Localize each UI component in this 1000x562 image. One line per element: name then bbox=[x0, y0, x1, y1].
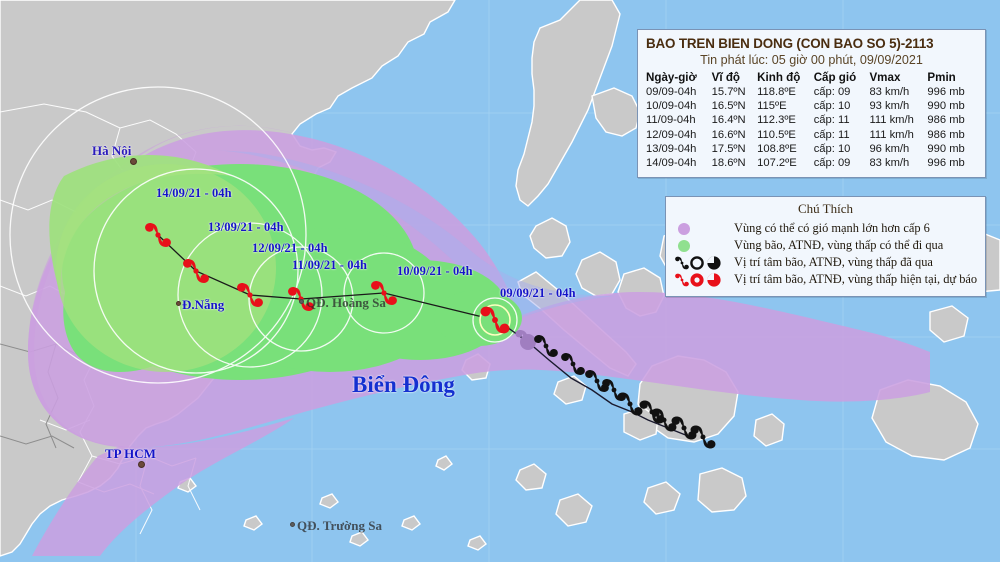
cell-lat: 16.4ºN bbox=[712, 113, 758, 127]
cell-lon: 112.3ºE bbox=[757, 113, 814, 127]
forecast-table: Ngày-giờ Vĩ độ Kinh độ Cấp gió Vmax Pmin… bbox=[646, 71, 977, 170]
cell-pmin: 990 mb bbox=[927, 99, 977, 113]
cell-pmin: 996 mb bbox=[927, 156, 977, 170]
cell-pmin: 990 mb bbox=[927, 142, 977, 156]
black-cyclone-symbols bbox=[674, 255, 728, 271]
cell-grade: cấp: 09 bbox=[814, 85, 870, 99]
cell-vmax: 111 km/h bbox=[869, 113, 927, 127]
cell-datetime: 13/09-04h bbox=[646, 142, 712, 156]
cell-lat: 15.7ºN bbox=[712, 85, 758, 99]
island-dot-hoang-sa bbox=[299, 299, 304, 304]
cell-vmax: 83 km/h bbox=[869, 156, 927, 170]
legend-label: Vùng bão, ATNĐ, vùng thấp có thể đi qua bbox=[730, 238, 943, 253]
col-vmax: Vmax bbox=[869, 71, 927, 85]
col-grade: Cấp gió bbox=[814, 71, 870, 85]
cell-datetime: 12/09-04h bbox=[646, 128, 712, 142]
cell-grade: cấp: 09 bbox=[814, 156, 870, 170]
cell-grade: cấp: 10 bbox=[814, 99, 870, 113]
cell-vmax: 93 km/h bbox=[869, 99, 927, 113]
cell-datetime: 10/09-04h bbox=[646, 99, 712, 113]
green-circle-swatch bbox=[678, 240, 690, 252]
cell-lon: 108.8ºE bbox=[757, 142, 814, 156]
purple-circle-swatch bbox=[678, 223, 690, 235]
col-lon: Kinh độ bbox=[757, 71, 814, 85]
table-row: 13/09-04h 17.5ºN 108.8ºE cấp: 10 96 km/h… bbox=[646, 142, 977, 156]
legend-item-current-forecast-positions: Vị trí tâm bão, ATNĐ, vùng thấp hiện tại… bbox=[674, 271, 977, 288]
col-lat: Vĩ độ bbox=[712, 71, 758, 85]
cell-pmin: 986 mb bbox=[927, 113, 977, 127]
cell-datetime: 09/09-04h bbox=[646, 85, 712, 99]
cell-grade: cấp: 11 bbox=[814, 128, 870, 142]
legend-item-past-positions: Vị trí tâm bão, ATNĐ, vùng thấp đã qua bbox=[674, 254, 977, 271]
table-row: 12/09-04h 16.6ºN 110.5ºE cấp: 11 111 km/… bbox=[646, 128, 977, 142]
table-row: 14/09-04h 18.6ºN 107.2ºE cấp: 09 83 km/h… bbox=[646, 156, 977, 170]
cell-lon: 110.5ºE bbox=[757, 128, 814, 142]
table-row: 10/09-04h 16.5ºN 115ºE cấp: 10 93 km/h 9… bbox=[646, 99, 977, 113]
cell-vmax: 83 km/h bbox=[869, 85, 927, 99]
cell-lat: 17.5ºN bbox=[712, 142, 758, 156]
col-datetime: Ngày-giờ bbox=[646, 71, 712, 85]
legend-item-storm-zone: Vùng bão, ATNĐ, vùng thấp có thể đi qua bbox=[674, 237, 977, 254]
city-dot-tp-hcm bbox=[138, 461, 145, 468]
cell-lat: 16.6ºN bbox=[712, 128, 758, 142]
cell-pmin: 986 mb bbox=[927, 128, 977, 142]
legend-item-wind-zone: Vùng có thể có gió mạnh lớn hơn cấp 6 bbox=[674, 220, 977, 237]
table-row: 09/09-04h 15.7ºN 118.8ºE cấp: 09 83 km/h… bbox=[646, 85, 977, 99]
cell-grade: cấp: 10 bbox=[814, 142, 870, 156]
bulletin-title: BAO TREN BIEN DONG (CON BAO SO 5)-2113 bbox=[646, 36, 977, 51]
col-pmin: Pmin bbox=[927, 71, 977, 85]
typhoon-forecast-map: Biển Đông Hà Nội Đ.Nẵng TP HCM QĐ. Hoàng… bbox=[0, 0, 1000, 562]
red-cyclone-symbols bbox=[674, 272, 728, 288]
cell-vmax: 96 km/h bbox=[869, 142, 927, 156]
legend-title: Chú Thích bbox=[674, 201, 977, 217]
cell-lon: 115ºE bbox=[757, 99, 814, 113]
cell-grade: cấp: 11 bbox=[814, 113, 870, 127]
cell-lon: 107.2ºE bbox=[757, 156, 814, 170]
city-dot-ha-noi bbox=[130, 158, 137, 165]
cell-lat: 18.6ºN bbox=[712, 156, 758, 170]
cell-pmin: 996 mb bbox=[927, 85, 977, 99]
legend-label: Vị trí tâm bão, ATNĐ, vùng thấp hiện tại… bbox=[730, 272, 977, 287]
table-header-row: Ngày-giờ Vĩ độ Kinh độ Cấp gió Vmax Pmin bbox=[646, 71, 977, 85]
cell-datetime: 14/09-04h bbox=[646, 156, 712, 170]
island-dot-truong-sa bbox=[290, 522, 295, 527]
cell-datetime: 11/09-04h bbox=[646, 113, 712, 127]
table-row: 11/09-04h 16.4ºN 112.3ºE cấp: 11 111 km/… bbox=[646, 113, 977, 127]
legend-label: Vùng có thể có gió mạnh lớn hơn cấp 6 bbox=[730, 221, 930, 236]
legend-label: Vị trí tâm bão, ATNĐ, vùng thấp đã qua bbox=[730, 255, 933, 270]
bulletin-panel: BAO TREN BIEN DONG (CON BAO SO 5)-2113 T… bbox=[637, 29, 986, 178]
legend-panel: Chú Thích Vùng có thể có gió mạnh lớn hơ… bbox=[665, 196, 986, 297]
city-dot-da-nang bbox=[176, 301, 181, 306]
bulletin-issued-time: Tin phát lúc: 05 giờ 00 phút, 09/09/2021 bbox=[646, 53, 977, 67]
cell-lon: 118.8ºE bbox=[757, 85, 814, 99]
cell-vmax: 111 km/h bbox=[869, 128, 927, 142]
cell-lat: 16.5ºN bbox=[712, 99, 758, 113]
